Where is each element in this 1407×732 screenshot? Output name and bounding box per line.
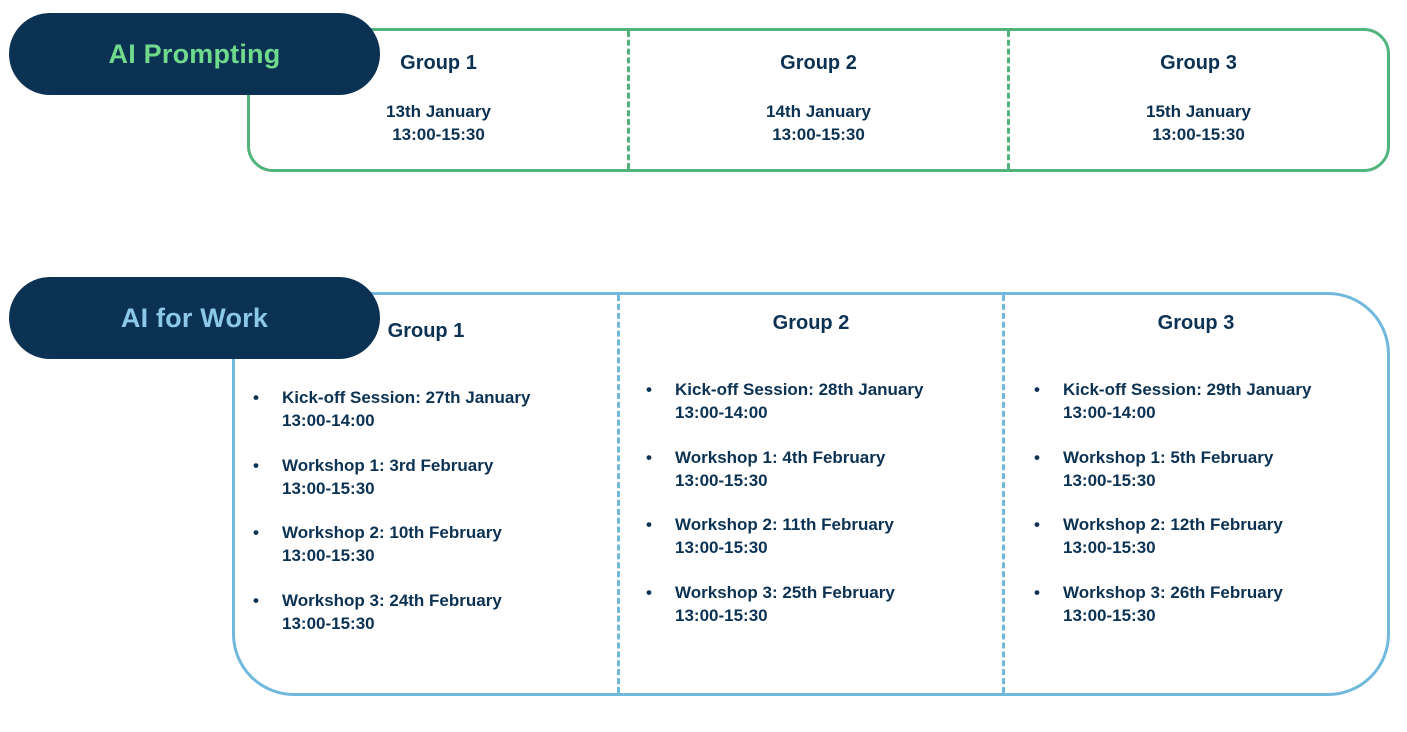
schedule-column-group-2: Group 2 14th January 13:00-15:30 bbox=[627, 31, 1007, 169]
section-title: AI Prompting bbox=[109, 41, 281, 68]
session-time: 13:00-15:30 bbox=[282, 477, 617, 500]
bullet-icon: • bbox=[1034, 378, 1040, 401]
bullet-icon: • bbox=[646, 378, 652, 401]
session-time: 13:00-14:00 bbox=[1063, 401, 1387, 424]
list-item: • Workshop 2: 12th February 13:00-15:30 bbox=[1027, 513, 1387, 560]
session-label: Workshop 3: 24th February bbox=[282, 589, 617, 612]
session-date: 15th January bbox=[1010, 100, 1387, 123]
session-time: 13:00-15:30 bbox=[675, 536, 1002, 559]
column-heading: Group 2 bbox=[630, 31, 1007, 73]
bullet-icon: • bbox=[646, 446, 652, 469]
session-date: 13th January bbox=[250, 100, 627, 123]
session-label: Kick-off Session: 29th January bbox=[1063, 378, 1387, 401]
session-label: Workshop 3: 26th February bbox=[1063, 581, 1387, 604]
schedule-columns-ai-prompting: Group 1 13th January 13:00-15:30 Group 2… bbox=[250, 31, 1387, 169]
list-item: • Workshop 3: 24th February 13:00-15:30 bbox=[246, 589, 617, 636]
session-time: 13:00-15:30 bbox=[675, 469, 1002, 492]
bullet-icon: • bbox=[646, 581, 652, 604]
session-label: Workshop 1: 4th February bbox=[675, 446, 1002, 469]
session-list: • Kick-off Session: 28th January 13:00-1… bbox=[620, 333, 1002, 627]
schedule-column-group-3: Group 3 • Kick-off Session: 29th January… bbox=[1002, 295, 1387, 693]
column-heading: Group 3 bbox=[1005, 295, 1387, 333]
session-time: 13:00-15:30 bbox=[282, 612, 617, 635]
schedule-column-group-2: Group 2 • Kick-off Session: 28th January… bbox=[617, 295, 1002, 693]
bullet-icon: • bbox=[253, 454, 259, 477]
session-label: Kick-off Session: 28th January bbox=[675, 378, 1002, 401]
session-date: 14th January bbox=[630, 100, 1007, 123]
list-item: • Workshop 1: 5th February 13:00-15:30 bbox=[1027, 446, 1387, 493]
bullet-icon: • bbox=[253, 386, 259, 409]
bullet-icon: • bbox=[1034, 513, 1040, 536]
list-item: • Workshop 2: 11th February 13:00-15:30 bbox=[639, 513, 1002, 560]
list-item: • Kick-off Session: 27th January 13:00-1… bbox=[246, 386, 617, 433]
session-time: 13:00-15:30 bbox=[282, 544, 617, 567]
session-time: 13:00-15:30 bbox=[250, 123, 627, 146]
column-session-details: 15th January 13:00-15:30 bbox=[1010, 73, 1387, 146]
session-label: Workshop 2: 11th February bbox=[675, 513, 1002, 536]
column-session-details: 14th January 13:00-15:30 bbox=[630, 73, 1007, 146]
schedule-columns-ai-for-work: Group 1 • Kick-off Session: 27th January… bbox=[235, 295, 1387, 693]
column-heading: Group 2 bbox=[620, 295, 1002, 333]
bullet-icon: • bbox=[1034, 581, 1040, 604]
session-time: 13:00-15:30 bbox=[1063, 536, 1387, 559]
list-item: • Workshop 1: 3rd February 13:00-15:30 bbox=[246, 454, 617, 501]
session-time: 13:00-14:00 bbox=[282, 409, 617, 432]
section-title-pill-ai-for-work: AI for Work bbox=[9, 277, 380, 359]
list-item: • Workshop 2: 10th February 13:00-15:30 bbox=[246, 521, 617, 568]
section-title: AI for Work bbox=[121, 305, 268, 332]
session-time: 13:00-15:30 bbox=[1063, 604, 1387, 627]
session-label: Kick-off Session: 27th January bbox=[282, 386, 617, 409]
list-item: • Workshop 3: 25th February 13:00-15:30 bbox=[639, 581, 1002, 628]
bullet-icon: • bbox=[253, 521, 259, 544]
section-title-pill-ai-prompting: AI Prompting bbox=[9, 13, 380, 95]
list-item: • Kick-off Session: 28th January 13:00-1… bbox=[639, 378, 1002, 425]
session-label: Workshop 1: 3rd February bbox=[282, 454, 617, 477]
session-time: 13:00-14:00 bbox=[675, 401, 1002, 424]
column-heading: Group 3 bbox=[1010, 31, 1387, 73]
bullet-icon: • bbox=[646, 513, 652, 536]
session-list: • Kick-off Session: 27th January 13:00-1… bbox=[235, 341, 617, 635]
session-list: • Kick-off Session: 29th January 13:00-1… bbox=[1005, 333, 1387, 627]
session-label: Workshop 2: 10th February bbox=[282, 521, 617, 544]
session-label: Workshop 2: 12th February bbox=[1063, 513, 1387, 536]
list-item: • Workshop 3: 26th February 13:00-15:30 bbox=[1027, 581, 1387, 628]
session-time: 13:00-15:30 bbox=[1010, 123, 1387, 146]
list-item: • Kick-off Session: 29th January 13:00-1… bbox=[1027, 378, 1387, 425]
session-time: 13:00-15:30 bbox=[1063, 469, 1387, 492]
session-label: Workshop 3: 25th February bbox=[675, 581, 1002, 604]
schedule-column-group-3: Group 3 15th January 13:00-15:30 bbox=[1007, 31, 1387, 169]
bullet-icon: • bbox=[1034, 446, 1040, 469]
bullet-icon: • bbox=[253, 589, 259, 612]
list-item: • Workshop 1: 4th February 13:00-15:30 bbox=[639, 446, 1002, 493]
session-time: 13:00-15:30 bbox=[630, 123, 1007, 146]
session-label: Workshop 1: 5th February bbox=[1063, 446, 1387, 469]
session-time: 13:00-15:30 bbox=[675, 604, 1002, 627]
